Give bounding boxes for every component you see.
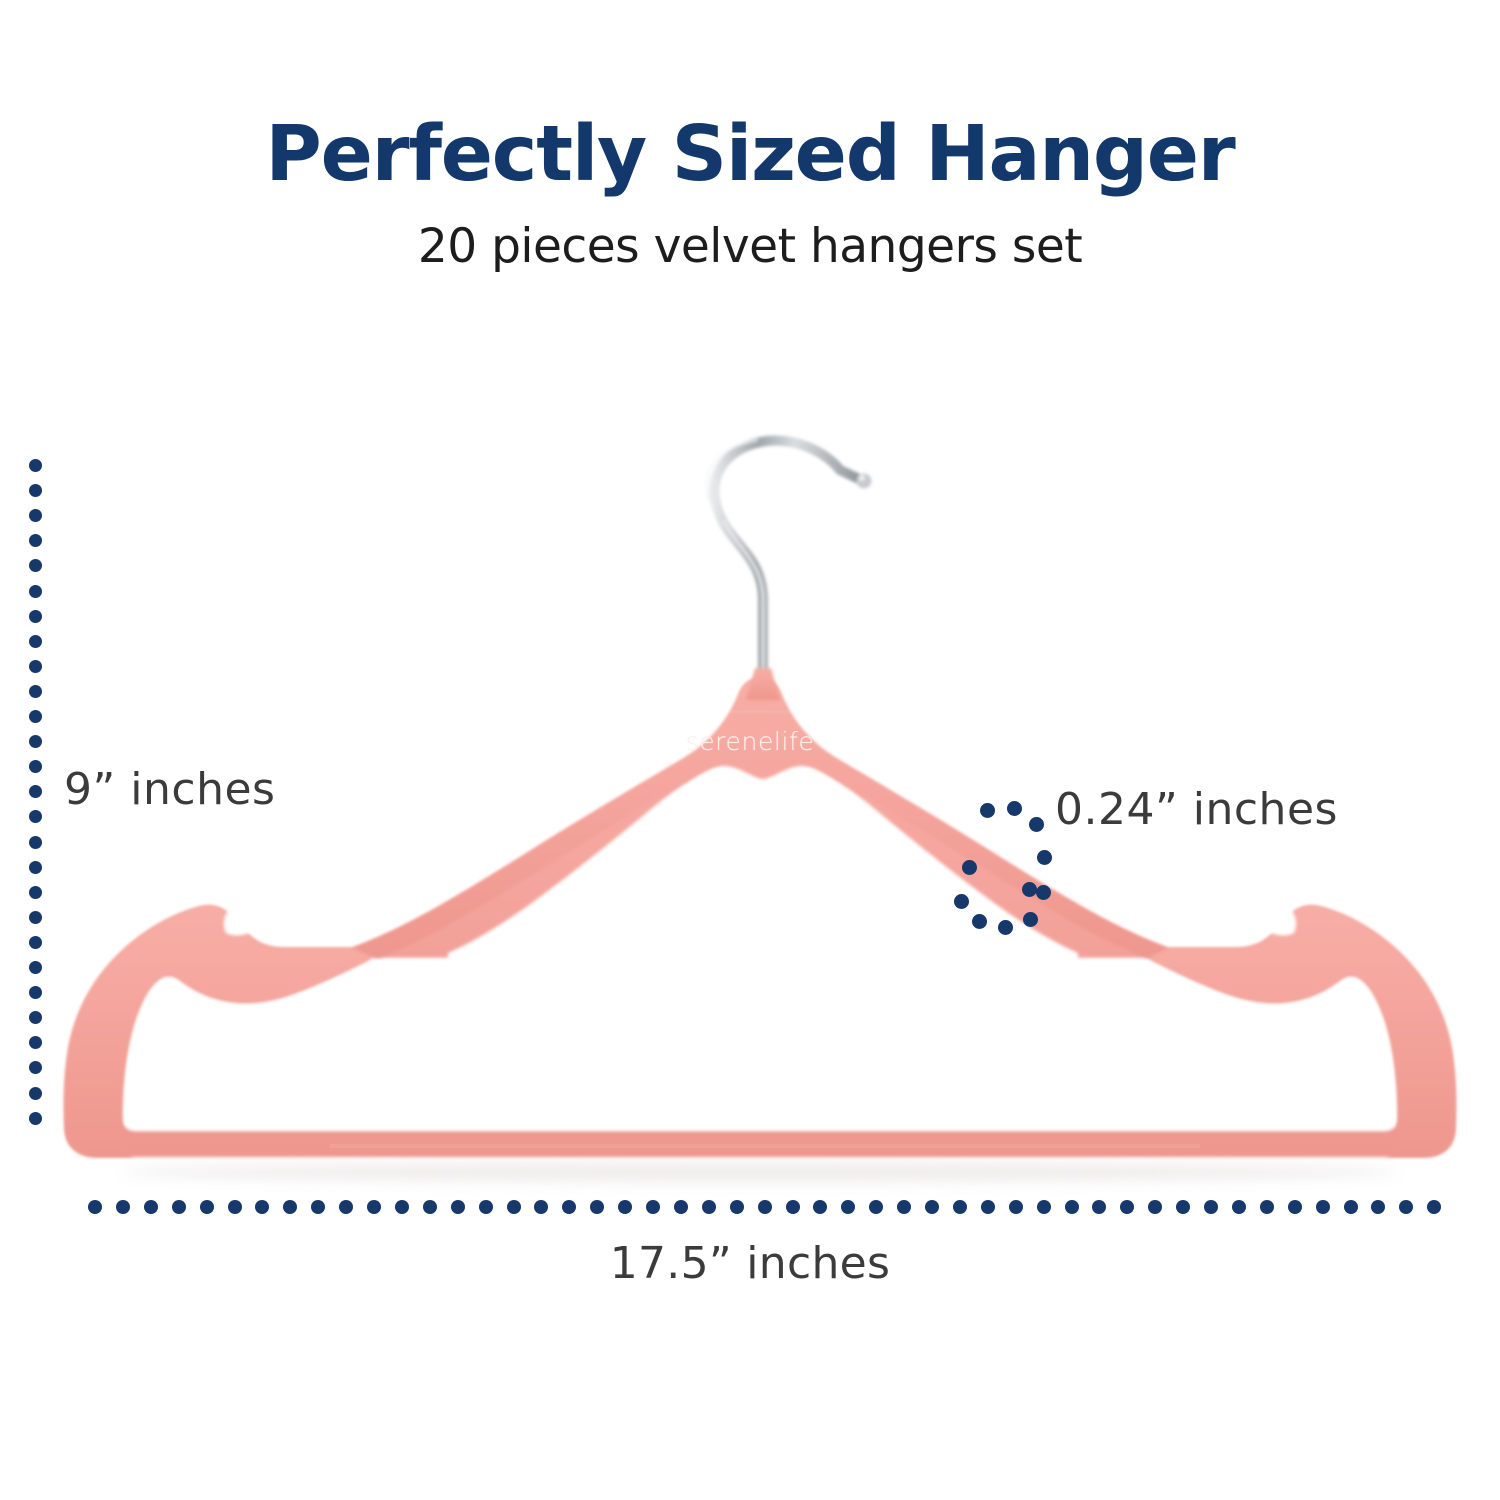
guide-dot [869, 1200, 883, 1214]
guide-dot [29, 660, 42, 673]
guide-dot [116, 1200, 130, 1214]
guide-dot [339, 1200, 353, 1214]
guide-dot [813, 1200, 827, 1214]
guide-dot [1092, 1200, 1106, 1214]
guide-dot [953, 1200, 967, 1214]
guide-dot [674, 1200, 688, 1214]
guide-dot [897, 1200, 911, 1214]
height-dotted-guide [29, 459, 43, 1149]
guide-dot [1427, 1200, 1441, 1214]
guide-dot [29, 459, 42, 472]
guide-dot [29, 760, 42, 773]
guide-dot [88, 1200, 102, 1214]
guide-dot [1260, 1200, 1274, 1214]
thickness-guide-dot [1007, 801, 1022, 816]
thickness-guide-dot [972, 914, 987, 929]
guide-dot [451, 1200, 465, 1214]
guide-dot [29, 936, 42, 949]
guide-dot [29, 1061, 42, 1074]
guide-dot [479, 1200, 493, 1214]
guide-dot [29, 635, 42, 648]
guide-dot [1371, 1200, 1385, 1214]
guide-dot [29, 484, 42, 497]
guide-dot [786, 1200, 800, 1214]
guide-dot [29, 785, 42, 798]
guide-dot [1344, 1200, 1358, 1214]
guide-dot [1037, 1200, 1051, 1214]
guide-dot [29, 986, 42, 999]
width-measurement-label: 17.5” inches [0, 1238, 1500, 1289]
guide-dot [29, 886, 42, 899]
guide-dot [255, 1200, 269, 1214]
guide-dot [1065, 1200, 1079, 1214]
thickness-dotted-guide-lower [950, 860, 1080, 950]
guide-dot [29, 1112, 42, 1125]
guide-dot [144, 1200, 158, 1214]
guide-dot [200, 1200, 214, 1214]
hanger-hook-mount [746, 668, 780, 700]
guide-dot [1232, 1200, 1246, 1214]
guide-dot [1176, 1200, 1190, 1214]
thickness-guide-dot [954, 894, 969, 909]
guide-dot [29, 559, 42, 572]
guide-dot [702, 1200, 716, 1214]
guide-dot [29, 710, 42, 723]
thickness-guide-dot [1029, 817, 1044, 832]
hanger-shadow [120, 1163, 1400, 1181]
guide-dot [29, 1087, 42, 1100]
guide-dot [29, 534, 42, 547]
guide-dot [228, 1200, 242, 1214]
guide-dot [507, 1200, 521, 1214]
guide-dot [1316, 1200, 1330, 1214]
guide-dot [841, 1200, 855, 1214]
guide-dot [981, 1200, 995, 1214]
guide-dot [1148, 1200, 1162, 1214]
guide-dot [1288, 1200, 1302, 1214]
thickness-measurement-label: 0.24” inches [1055, 784, 1338, 835]
guide-dot [618, 1200, 632, 1214]
guide-dot [29, 610, 42, 623]
thickness-guide-dot [1023, 912, 1038, 927]
guide-dot [1399, 1200, 1413, 1214]
guide-dot [1120, 1200, 1134, 1214]
guide-dot [29, 1036, 42, 1049]
hanger-hook [707, 440, 872, 686]
guide-dot [283, 1200, 297, 1214]
product-infographic: Perfectly Sized Hanger 20 pieces velvet … [0, 0, 1500, 1500]
width-dotted-guide [88, 1200, 1458, 1215]
guide-dot [29, 509, 42, 522]
height-measurement-label: 9” inches [64, 764, 275, 815]
guide-dot [646, 1200, 660, 1214]
guide-dot [29, 1011, 42, 1024]
guide-dot [1204, 1200, 1218, 1214]
guide-dot [29, 911, 42, 924]
guide-dot [29, 836, 42, 849]
guide-dot [925, 1200, 939, 1214]
guide-dot [423, 1200, 437, 1214]
guide-dot [534, 1200, 548, 1214]
guide-dot [395, 1200, 409, 1214]
guide-dot [29, 861, 42, 874]
guide-dot [29, 685, 42, 698]
guide-dot [29, 961, 42, 974]
thickness-guide-dot [980, 803, 995, 818]
guide-dot [311, 1200, 325, 1214]
guide-dot [590, 1200, 604, 1214]
guide-dot [758, 1200, 772, 1214]
thickness-guide-dot [998, 920, 1013, 935]
guide-dot [172, 1200, 186, 1214]
guide-dot [29, 735, 42, 748]
guide-dot [367, 1200, 381, 1214]
guide-dot [29, 810, 42, 823]
guide-dot [562, 1200, 576, 1214]
guide-dot [1009, 1200, 1023, 1214]
thickness-guide-dot [962, 860, 977, 875]
thickness-guide-dot [1022, 882, 1037, 897]
guide-dot [730, 1200, 744, 1214]
guide-dot [29, 585, 42, 598]
